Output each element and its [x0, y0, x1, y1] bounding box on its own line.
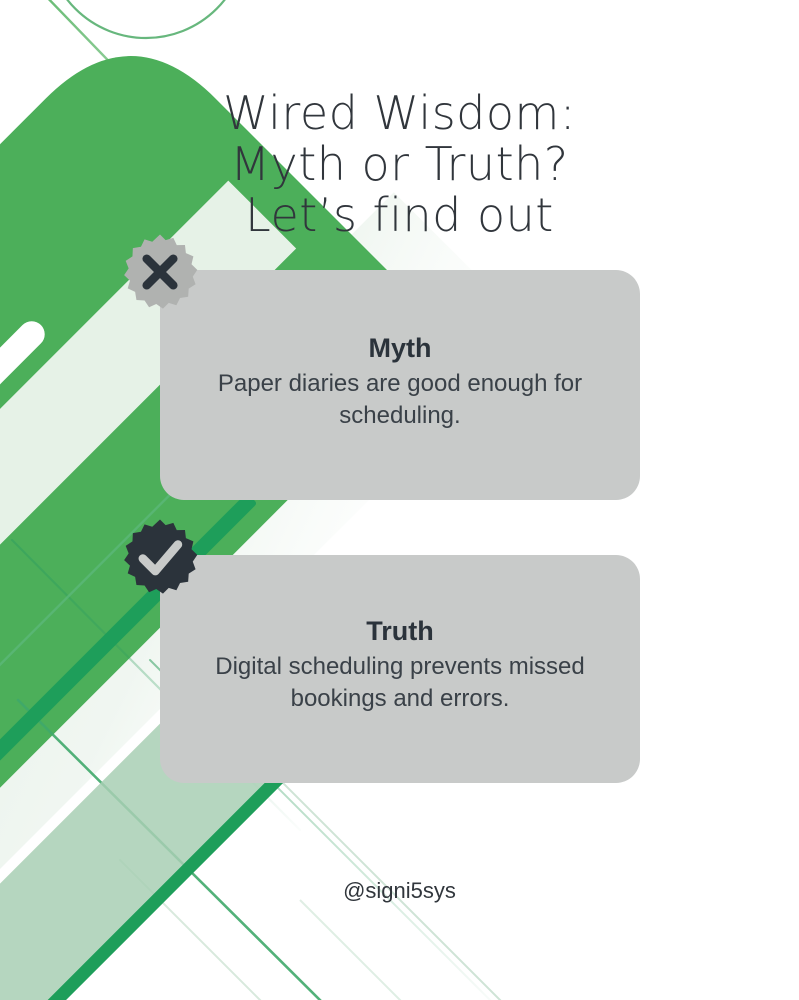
- page-title: Wired Wisdom: Myth or Truth? Let’s find …: [0, 88, 799, 241]
- truth-card-body: Digital scheduling prevents missed booki…: [160, 651, 640, 715]
- truth-card-heading: Truth: [160, 615, 640, 648]
- title-line-2: Myth or Truth?: [0, 139, 799, 190]
- poster-canvas: Wired Wisdom: Myth or Truth? Let’s find …: [0, 0, 799, 1000]
- myth-card-heading: Myth: [160, 332, 640, 365]
- check-badge-icon: [121, 518, 199, 596]
- circle-outline-decor: [46, 0, 246, 38]
- cross-badge-icon: [121, 233, 199, 311]
- white-capsule-stripe: [0, 316, 50, 547]
- myth-card-body: Paper diaries are good enough for schedu…: [160, 368, 640, 432]
- title-line-1: Wired Wisdom:: [0, 88, 799, 139]
- myth-card: Myth Paper diaries are good enough for s…: [160, 270, 640, 500]
- truth-card: Truth Digital scheduling prevents missed…: [160, 555, 640, 783]
- account-handle: @signi5sys: [0, 878, 799, 904]
- hairline-bottom-right: [300, 900, 470, 1000]
- check-badge-starburst-shape: [124, 520, 197, 594]
- title-line-3: Let’s find out: [0, 190, 799, 241]
